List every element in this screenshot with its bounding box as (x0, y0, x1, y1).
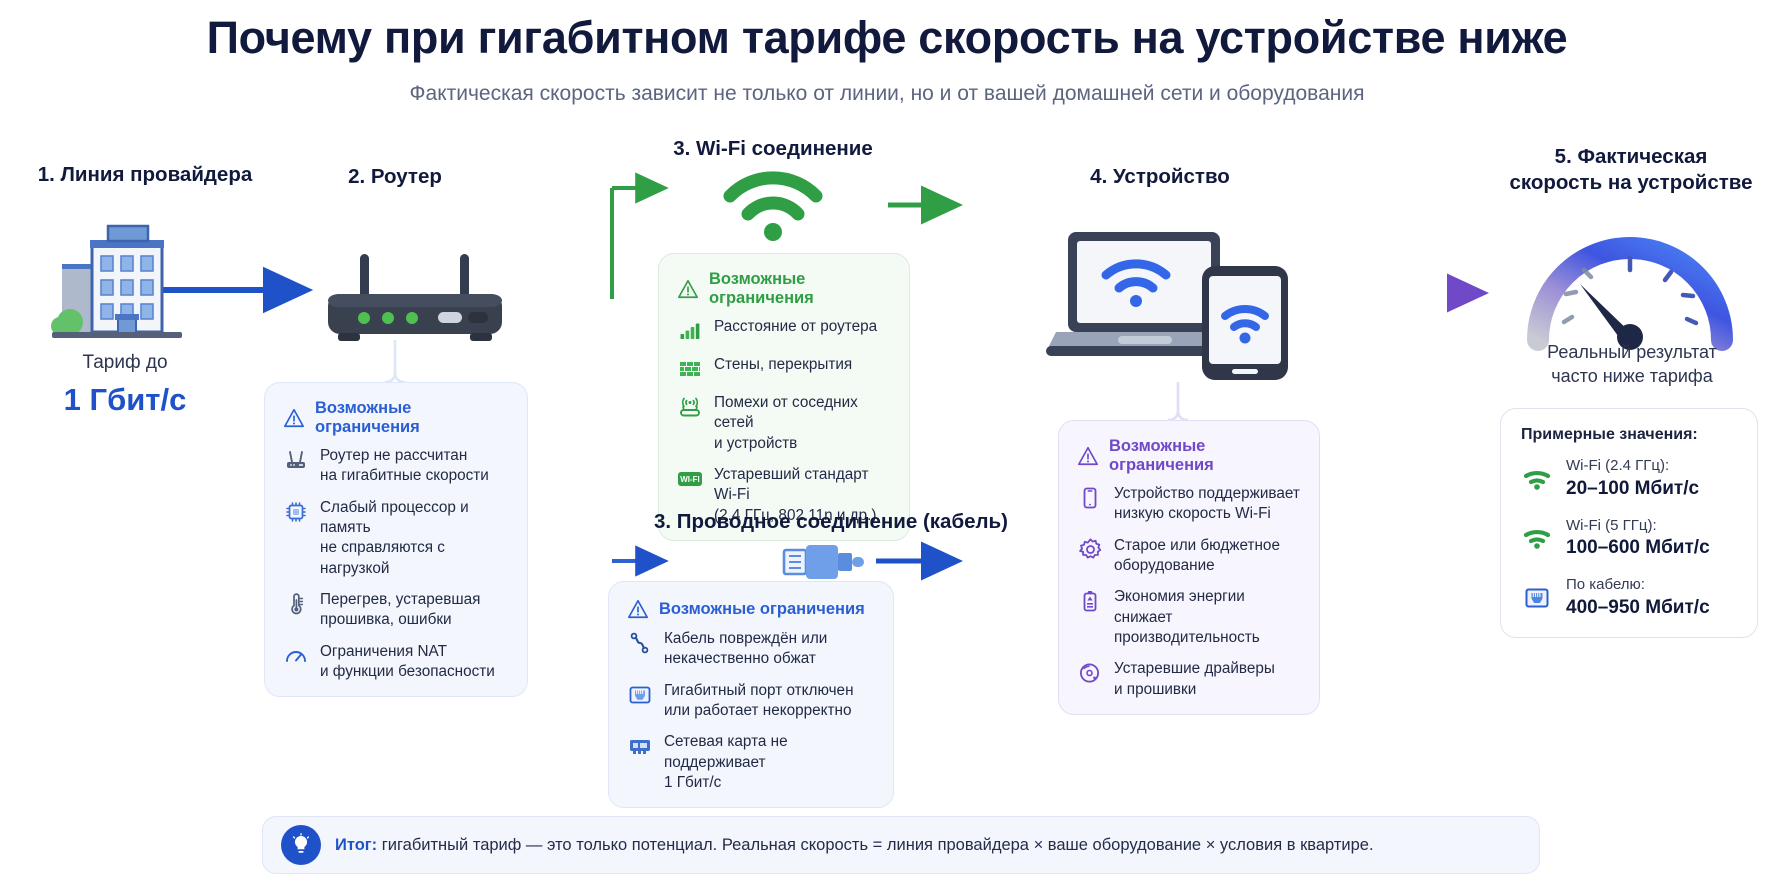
card-title: Возможные ограничения (283, 399, 509, 437)
speed-value: 100–600 Мбит/с (1566, 536, 1710, 560)
speed-value: 20–100 Мбит/с (1566, 477, 1699, 501)
limitation-text: Сетевая карта не поддерживает1 Гбит/с (664, 732, 875, 793)
limitation-row: Помехи от соседних сетейи устройств (677, 393, 891, 454)
disc-icon (1077, 660, 1103, 686)
limitation-text: Ограничения NATи функции безопасности (320, 642, 495, 683)
step-label-wifi: 3. Wi-Fi соединение (628, 136, 918, 162)
wifi-icon (1521, 465, 1553, 493)
warning-triangle-icon (677, 278, 699, 300)
card-title-text: Возможные ограничения (659, 600, 865, 619)
card-title-text: Возможные ограничения (315, 399, 509, 437)
limitation-row: Старое или бюджетноеоборудование (1077, 536, 1301, 577)
speed-caption: Wi-Fi (2.4 ГГц): (1566, 457, 1699, 476)
limitation-text: Перегрев, устаревшаяпрошивка, ошибки (320, 590, 480, 631)
lightbulb-icon (281, 825, 321, 865)
limitation-text: Старое или бюджетноеоборудование (1114, 536, 1280, 577)
limitation-row: Слабый процессор и памятьне справляются … (283, 498, 509, 579)
speed-caption: Wi-Fi (5 ГГц): (1566, 517, 1710, 536)
step-label-provider: 1. Линия провайдера (0, 162, 290, 188)
ethernet-port-icon (627, 682, 653, 708)
summary-body: гигабитный тариф — это только потенциал.… (377, 836, 1373, 854)
cable-limitations-card: Возможные ограничения Кабель повреждён и… (608, 581, 894, 808)
limitation-text: Стены, перекрытия (714, 355, 852, 375)
limitation-row: Устройство поддерживаетнизкую скорость W… (1077, 484, 1301, 525)
speed-caption: По кабелю: (1566, 576, 1710, 595)
card-title: Возможные ограничения (1077, 437, 1301, 475)
limitation-row: Кабель повреждён илинекачественно обжат (627, 629, 875, 670)
router-icon (283, 447, 309, 473)
limitation-row: Сетевая карта не поддерживает1 Гбит/с (627, 732, 875, 793)
speed-item: По кабелю: 400–950 Мбит/с (1521, 576, 1739, 620)
limitation-row: Перегрев, устаревшаяпрошивка, ошибки (283, 590, 509, 631)
step-label-cable: 3. Проводное соединение (кабель) (636, 509, 1026, 535)
warning-triangle-icon (283, 407, 305, 429)
tariff-caption: Тариф до (0, 352, 250, 374)
typical-speeds-title: Примерные значения: (1521, 426, 1739, 444)
svg-text:WI-FI: WI-FI (680, 475, 700, 484)
router-device-icon (314, 248, 514, 348)
step-label-result: 5. Фактическаяскорость на устройстве (1488, 144, 1774, 196)
connector-router-split (512, 188, 660, 561)
wifi-icon (718, 172, 828, 242)
limitation-text: Слабый процессор и памятьне справляются … (320, 498, 509, 579)
warning-triangle-icon (627, 598, 649, 620)
limitation-text: Кабель повреждён илинекачественно обжат (664, 629, 827, 670)
building-icon (38, 222, 198, 342)
laptop-phone-icon (1050, 228, 1310, 383)
gear-icon (1077, 537, 1103, 563)
warning-triangle-icon (1077, 445, 1099, 467)
card-title-text: Возможные ограничения (709, 270, 891, 308)
speedometer-icon (1520, 222, 1740, 352)
stem-device-card (1168, 382, 1178, 420)
limitation-text: Гигабитный порт отключенили работает нек… (664, 681, 854, 722)
limitation-row: Стены, перекрытия (677, 355, 891, 382)
step-label-device: 4. Устройство (1040, 164, 1280, 190)
limitation-text: Устаревшие драйверыи прошивки (1114, 659, 1275, 700)
limitation-row: Роутер не рассчитанна гигабитные скорост… (283, 446, 509, 487)
wifi-badge-icon: WI-FI (677, 466, 703, 492)
speed-item: Wi-Fi (2.4 ГГц): 20–100 Мбит/с (1521, 457, 1739, 501)
gauge-icon (283, 643, 309, 669)
network-card-icon (627, 733, 653, 759)
speed-value: 400–950 Мбит/с (1566, 596, 1710, 620)
ethernet-port-icon (1521, 584, 1553, 612)
card-title: Возможные ограничения (627, 598, 875, 620)
battery-icon (1077, 588, 1103, 614)
cpu-chip-icon (283, 499, 309, 525)
limitation-text: Роутер не рассчитанна гигабитные скорост… (320, 446, 489, 487)
ethernet-cable-icon (780, 540, 880, 584)
tariff-value: 1 Гбит/с (0, 382, 250, 418)
limitation-row: Гигабитный порт отключенили работает нек… (627, 681, 875, 722)
step-label-router: 2. Роутер (280, 164, 510, 190)
summary-lead: Итог: (335, 836, 377, 854)
brick-wall-icon (677, 356, 703, 382)
limitation-row: Расстояние от роутера (677, 317, 891, 344)
cable-icon (627, 630, 653, 656)
limitation-text: Устройство поддерживаетнизкую скорость W… (1114, 484, 1300, 525)
limitation-row: Устаревшие драйверыи прошивки (1077, 659, 1301, 700)
summary-text: Итог: гигабитный тариф — это только поте… (335, 836, 1374, 855)
card-title: Возможные ограничения (677, 270, 891, 308)
limitation-text: Расстояние от роутера (714, 317, 877, 337)
wifi-limitations-card: Возможные ограничения Расстояние от роут… (658, 253, 910, 541)
thermometer-icon (283, 591, 309, 617)
result-caption: Реальный результатчасто ниже тарифа (1490, 340, 1774, 389)
signal-bars-icon (677, 318, 703, 344)
limitation-row: Экономия энергииснижает производительнос… (1077, 587, 1301, 648)
card-title-text: Возможные ограничения (1109, 437, 1301, 475)
wifi-icon (1521, 524, 1553, 552)
router-limitations-card: Возможные ограничения Роутер не рассчита… (264, 382, 528, 697)
interference-icon (677, 394, 703, 420)
summary-banner: Итог: гигабитный тариф — это только поте… (262, 816, 1540, 874)
infographic-canvas: Почему при гигабитном тарифе скорость на… (0, 0, 1774, 887)
limitation-text: Экономия энергииснижает производительнос… (1114, 587, 1301, 648)
limitation-text: Помехи от соседних сетейи устройств (714, 393, 891, 454)
limitation-row: Ограничения NATи функции безопасности (283, 642, 509, 683)
smartphone-icon (1077, 485, 1103, 511)
device-limitations-card: Возможные ограничения Устройство поддерж… (1058, 420, 1320, 715)
speed-item: Wi-Fi (5 ГГц): 100–600 Мбит/с (1521, 517, 1739, 561)
typical-speeds-card: Примерные значения: Wi-Fi (2.4 ГГц): 20–… (1500, 408, 1758, 638)
